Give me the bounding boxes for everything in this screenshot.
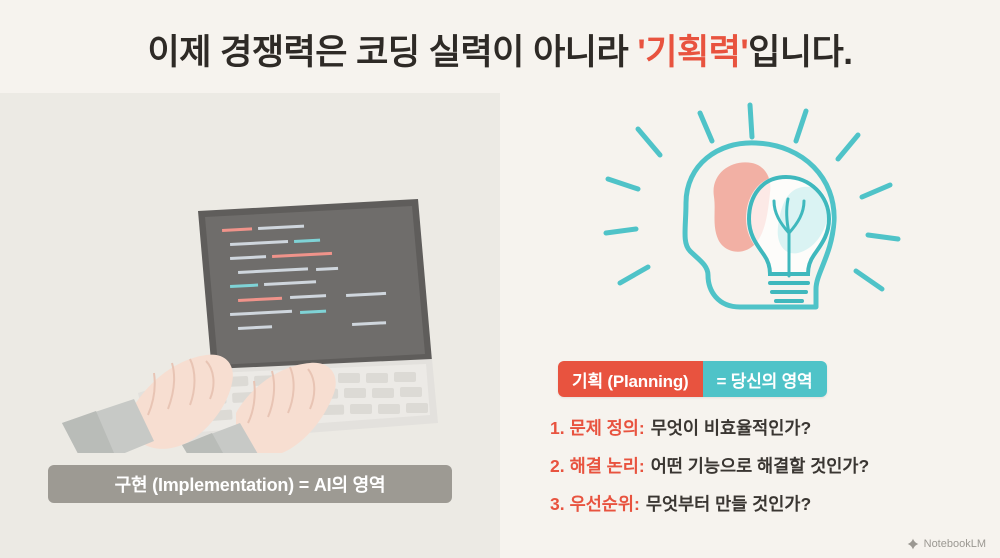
page-title: 이제 경쟁력은 코딩 실력이 아니라 '기획력'입니다. [0, 24, 1000, 75]
bullet-number: 3. [550, 494, 565, 515]
notebooklm-watermark: NotebookLM [907, 538, 986, 550]
bullet-text: 무엇이 비효율적인가? [651, 415, 811, 440]
list-item: 3. 우선순위: 무엇부터 만들 것인가? [550, 491, 980, 516]
left-panel: 구현 (Implementation) = AI의 영역 [0, 93, 500, 558]
bullet-text: 무엇부터 만들 것인가? [646, 491, 811, 516]
title-highlight: '기획력' [637, 33, 748, 72]
title-text-before: 이제 경쟁력은 코딩 실력이 아니라 [148, 33, 638, 72]
bullet-number: 1. [550, 418, 565, 439]
brain-with-lightbulb-idea-illustration [590, 93, 920, 343]
planning-badge: 기획 (Planning) = 당신의 영역 [558, 361, 827, 397]
bullet-number: 2. [550, 456, 565, 477]
planning-badge-right-label: = 당신의 영역 [703, 361, 827, 397]
right-panel: 기획 (Planning) = 당신의 영역 1. 문제 정의: 무엇이 비효율… [500, 93, 1000, 558]
hands-typing-on-laptop-illustration [0, 93, 500, 453]
bullet-lead: 우선순위: [570, 491, 640, 516]
planning-badge-left-label: 기획 (Planning) [558, 361, 703, 397]
list-item: 2. 해결 논리: 어떤 기능으로 해결할 것인가? [550, 453, 980, 478]
planning-bullet-list: 1. 문제 정의: 무엇이 비효율적인가? 2. 해결 논리: 어떤 기능으로 … [550, 415, 980, 529]
bullet-text: 어떤 기능으로 해결할 것인가? [651, 453, 869, 478]
list-item: 1. 문제 정의: 무엇이 비효율적인가? [550, 415, 980, 440]
title-text-after: 입니다. [748, 33, 852, 72]
notebooklm-logo-icon [907, 538, 919, 550]
slide-root: 이제 경쟁력은 코딩 실력이 아니라 '기획력'입니다. [0, 0, 1000, 558]
notebooklm-watermark-label: NotebookLM [924, 538, 986, 550]
bullet-lead: 문제 정의: [570, 415, 645, 440]
bullet-lead: 해결 논리: [570, 453, 645, 478]
implementation-caption: 구현 (Implementation) = AI의 영역 [48, 465, 452, 503]
